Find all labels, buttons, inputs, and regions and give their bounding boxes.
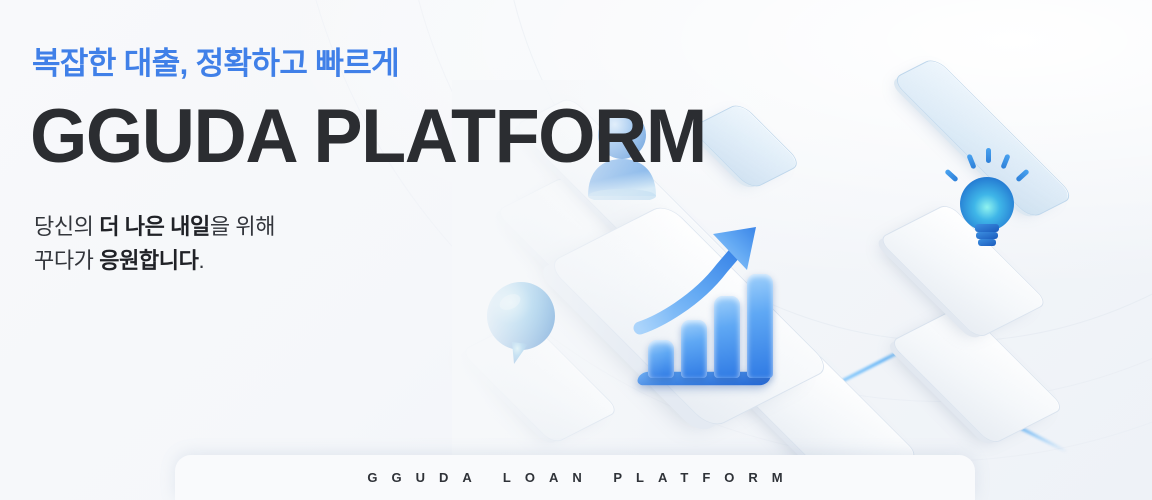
page-title: GGUDA PLATFORM — [30, 99, 706, 175]
bottom-brand-label: GGUDA LOAN PLATFORM — [353, 470, 796, 485]
lightbulb-idea-icon — [944, 142, 1030, 252]
growth-arrow-icon — [630, 210, 800, 350]
bar-chart-growth-icon — [648, 256, 798, 378]
hero-subtitle: 당신의 더 나은 내일을 위해 꾸다가 응원합니다. — [34, 210, 275, 278]
subtitle-2-tail: . — [198, 248, 204, 273]
bottom-brand-bar: GGUDA LOAN PLATFORM — [175, 455, 975, 500]
hero-subtitle-line-1: 당신의 더 나은 내일을 위해 — [34, 210, 275, 244]
bulb-glass — [944, 142, 1030, 252]
hero-banner: 복잡한 대출, 정확하고 빠르게 GGUDA PLATFORM 당신의 더 나은… — [0, 0, 1152, 500]
hero-eyebrow: 복잡한 대출, 정확하고 빠르게 — [32, 38, 399, 83]
subtitle-1-plain: 당신의 — [34, 214, 99, 239]
subtitle-1-tail: 을 위해 — [210, 214, 275, 239]
tile-glass-cube — [689, 102, 802, 190]
speech-bubble-icon — [484, 280, 562, 366]
subtitle-1-bold: 더 나은 내일 — [99, 214, 210, 239]
subtitle-2-plain: 꾸다가 — [34, 248, 99, 273]
hero-subtitle-line-2: 꾸다가 응원합니다. — [34, 244, 275, 278]
subtitle-2-bold: 응원합니다 — [99, 248, 198, 273]
